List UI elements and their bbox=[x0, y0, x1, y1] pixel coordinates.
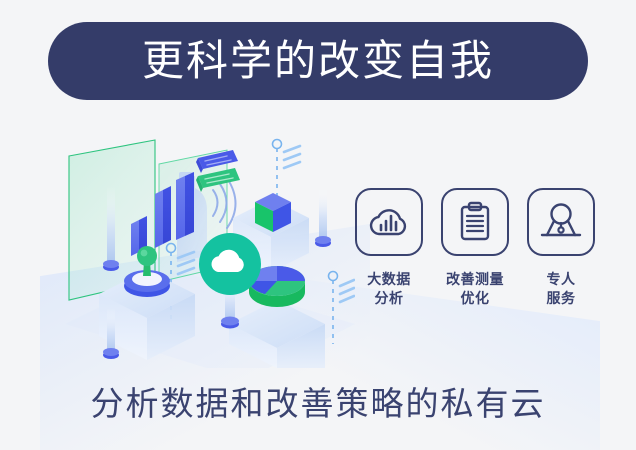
pin-marker-right bbox=[315, 188, 331, 247]
feature-label-big-data: 大数据 分析 bbox=[367, 270, 411, 308]
feature-label-measurement: 改善测量 优化 bbox=[446, 270, 504, 308]
feature-item-big-data[interactable]: 大数据 分析 bbox=[352, 188, 426, 308]
feature-label-line1: 专人 bbox=[547, 270, 576, 289]
feature-label-line2: 优化 bbox=[446, 289, 504, 308]
feature-label-line1: 改善测量 bbox=[446, 270, 504, 289]
feature-icon-frame bbox=[441, 188, 509, 256]
feature-list: 大数据 分析 改善测量 优化 bbox=[352, 188, 598, 308]
hero-illustration bbox=[55, 128, 355, 368]
support-agent-icon bbox=[539, 202, 583, 242]
tagline: 分析数据和改善策略的私有云 bbox=[0, 384, 636, 424]
feature-item-measurement[interactable]: 改善测量 优化 bbox=[438, 188, 512, 308]
feature-label-service: 专人 服务 bbox=[547, 270, 576, 308]
clipboard-icon bbox=[456, 201, 494, 243]
feature-icon-frame bbox=[355, 188, 423, 256]
feature-label-line2: 服务 bbox=[547, 289, 576, 308]
header-banner: 更科学的改变自我 bbox=[48, 22, 588, 100]
page-title: 更科学的改变自我 bbox=[142, 40, 494, 82]
cloud-bar-chart-icon bbox=[368, 203, 410, 241]
feature-item-service[interactable]: 专人 服务 bbox=[524, 188, 598, 308]
poster-root: 更科学的改变自我 bbox=[0, 0, 636, 450]
feature-icon-frame bbox=[527, 188, 595, 256]
feature-label-line1: 大数据 bbox=[367, 270, 411, 289]
feature-label-line2: 分析 bbox=[367, 289, 411, 308]
